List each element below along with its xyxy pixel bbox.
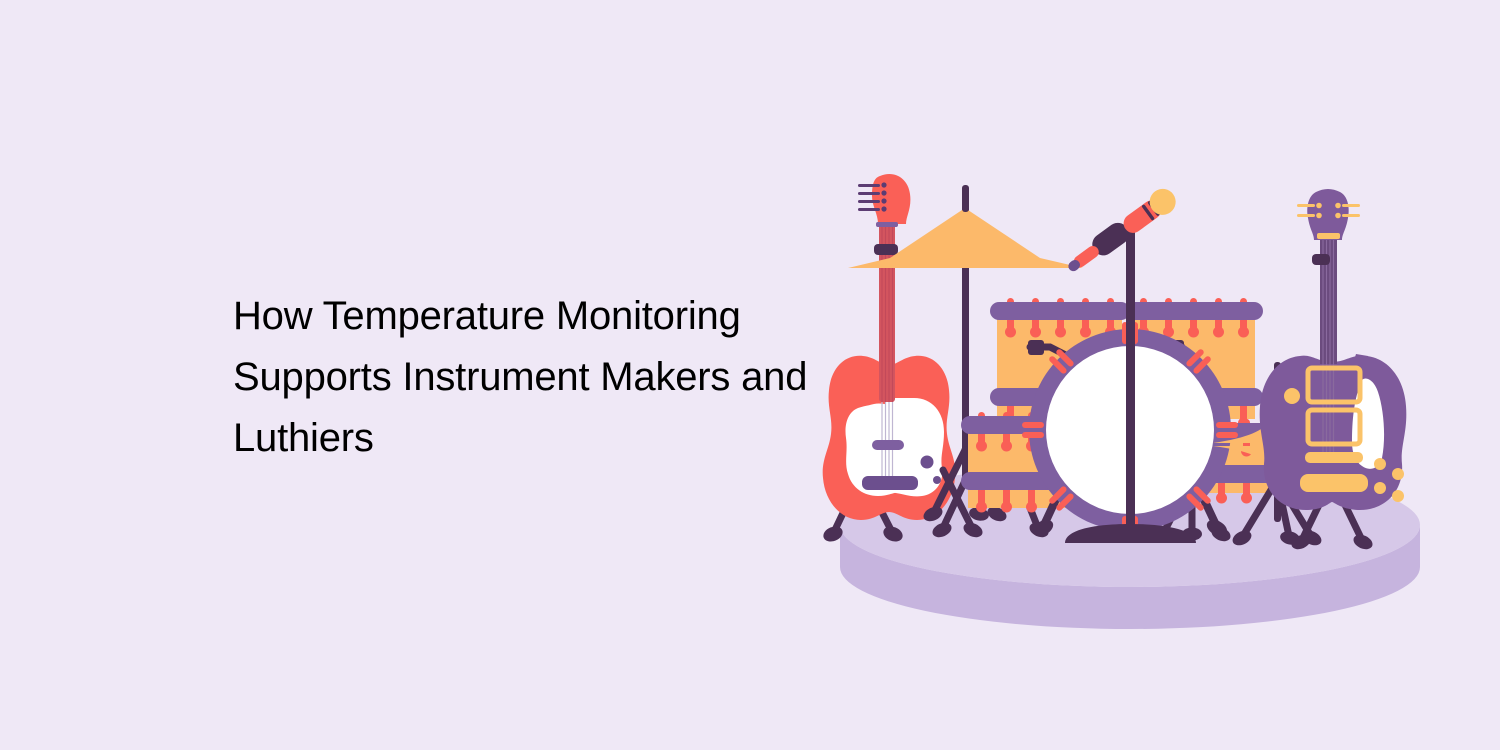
purple-electric-guitar (1260, 189, 1407, 552)
microphone (1062, 184, 1181, 280)
hero-text-block: How Temperature Monitoring Supports Inst… (233, 286, 833, 469)
hero-banner: How Temperature Monitoring Supports Inst… (0, 0, 1500, 750)
music-instruments-illustration (800, 140, 1460, 630)
page-title: How Temperature Monitoring Supports Inst… (233, 286, 833, 469)
